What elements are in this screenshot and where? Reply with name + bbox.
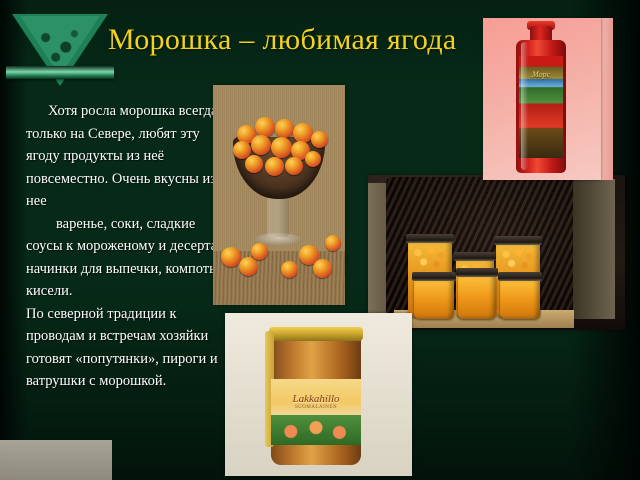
berry	[313, 259, 332, 278]
jar-lid	[406, 234, 454, 243]
berry	[285, 157, 303, 175]
photo-berry-drink-bottle: Морс	[483, 18, 601, 180]
photo-bowl-of-cloudberries	[213, 85, 345, 305]
jam-label-artwork	[271, 415, 361, 445]
berry	[265, 157, 284, 176]
jar	[414, 279, 454, 319]
berry	[293, 123, 313, 143]
berry	[251, 243, 268, 260]
berry	[271, 137, 292, 158]
berry	[221, 247, 241, 267]
berry	[325, 235, 341, 251]
photo-jars-of-cloudberries	[368, 175, 625, 330]
berry	[311, 131, 328, 148]
berry	[251, 135, 271, 155]
jar-berries	[410, 244, 450, 273]
jar	[458, 275, 496, 319]
jar-lid	[412, 272, 456, 281]
jam-label-subtitle: SUOMALAINEN	[271, 405, 361, 410]
jar-lid	[456, 268, 498, 277]
paragraph-2: варенье, соки, сладкие соусы к мороженом…	[26, 213, 234, 303]
berry	[281, 261, 298, 278]
bottle-highlight	[521, 42, 528, 170]
berry	[255, 117, 275, 137]
berry	[239, 257, 258, 276]
body-text: Хотя росла морошка всегда только на Севе…	[26, 100, 234, 393]
paragraph-1: Хотя росла морошка всегда только на Севе…	[26, 100, 234, 213]
page-title: Морошка – любимая ягода	[108, 22, 548, 58]
jar	[500, 279, 540, 319]
photo-cloudberry-jam-jar: Lakkahillo SUOMALAINEN	[225, 313, 412, 476]
berry	[275, 119, 294, 138]
jam-jar-lid	[269, 327, 363, 341]
berry	[245, 155, 263, 173]
bowl-stem	[267, 197, 289, 237]
jam-label-brand: Lakkahillo	[271, 393, 361, 405]
bottle-backdrop-sliver	[601, 18, 613, 180]
paragraph-3: По северной традиции к проводам и встреч…	[26, 303, 234, 393]
jam-jar-label: Lakkahillo SUOMALAINEN	[271, 379, 361, 445]
jar-lid	[498, 272, 542, 281]
bottom-left-edge	[0, 440, 112, 480]
slide: Морошка – любимая ягода Хотя росла морош…	[0, 0, 640, 480]
jar-lid	[494, 236, 542, 245]
jar-berries	[498, 246, 538, 274]
triangle-emblem-icon	[6, 14, 114, 96]
jars-cloth-right	[573, 179, 615, 319]
berry	[305, 151, 321, 167]
jar-lid	[454, 252, 496, 261]
emblem-horizontal-bar	[6, 66, 114, 79]
